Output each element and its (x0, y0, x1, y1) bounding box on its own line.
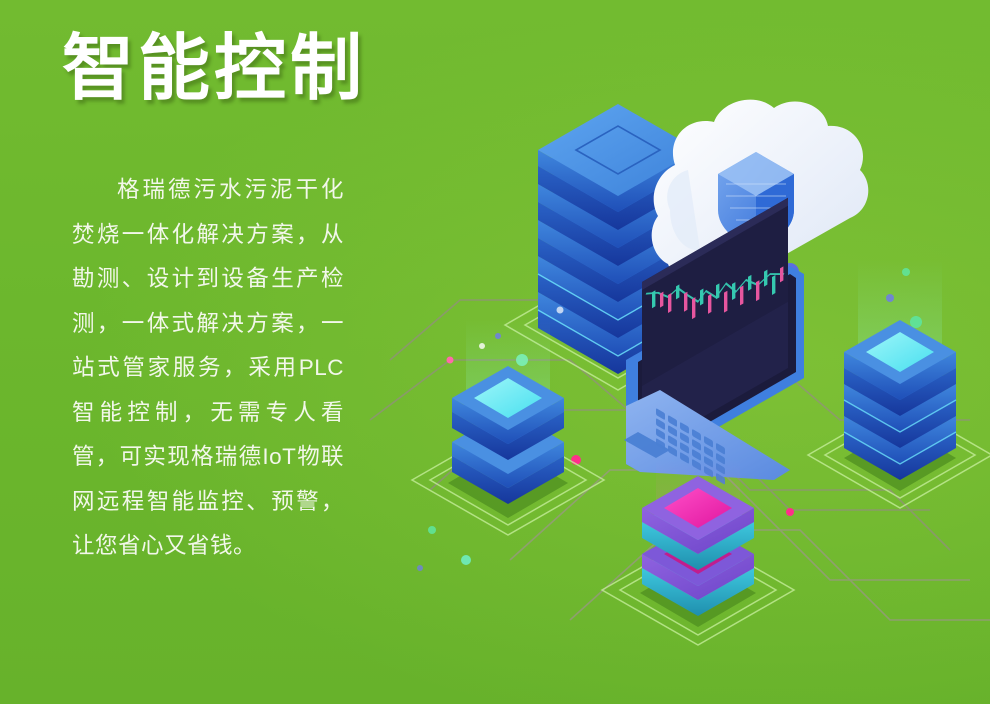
poster-root: 智能控制 格瑞德污水污泥干化焚烧一体化解决方案，从勘测、设计到设备生产检测，一体… (0, 0, 990, 704)
illustration-stage (370, 60, 990, 680)
server-stack-left (452, 318, 564, 504)
server-stack-right (844, 260, 956, 480)
body-paragraph: 格瑞德污水污泥干化焚烧一体化解决方案，从勘测、设计到设备生产检测，一体式解决方案… (72, 168, 344, 569)
page-title: 智能控制 (62, 33, 366, 105)
text-column: 智能控制 格瑞德污水污泥干化焚烧一体化解决方案，从勘测、设计到设备生产检测，一体… (0, 0, 400, 704)
server-stack-magenta (642, 460, 754, 616)
